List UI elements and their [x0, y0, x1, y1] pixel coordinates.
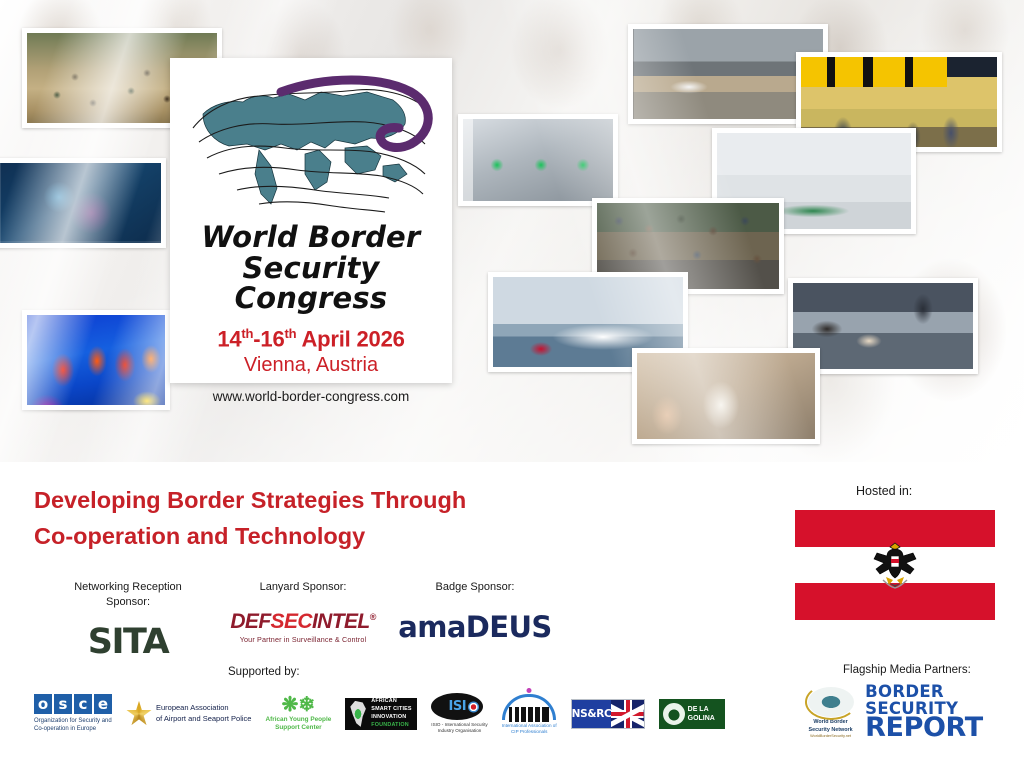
ascif-line2: SMART CITIES — [371, 706, 411, 714]
photo-automated-egates-terminal — [458, 114, 618, 206]
osce-letter: e — [94, 694, 112, 714]
golina-line1: DE LA — [688, 705, 715, 714]
event-location: Vienna, Austria — [170, 354, 452, 377]
supporter-logo-nsrc[interactable]: NS&RC — [571, 699, 645, 729]
media-partner-world-border-security-network[interactable]: World Border Security Network WorldBorde… — [802, 687, 859, 738]
defsecintel-tagline: Your Partner in Surveillance & Control — [230, 635, 375, 644]
dome-pin-icon — [526, 688, 531, 693]
photo-image — [637, 353, 815, 439]
registered-mark-icon: ® — [370, 612, 376, 622]
photo-image — [633, 29, 823, 119]
media-partners-caption: Flagship Media Partners: — [843, 664, 971, 676]
hands-icon — [663, 703, 685, 725]
wbsn-text: World Border Security Network — [802, 719, 859, 734]
theme-headline: Developing Border Strategies Through Co-… — [34, 482, 554, 555]
sponsor-caption: Badge Sponsor: — [390, 580, 560, 595]
osce-letter-boxes: o s c e — [34, 694, 112, 714]
aypsc-line1: African Young People — [265, 716, 331, 724]
cip-dome-skyline-icon — [502, 692, 556, 722]
osce-subtitle-line2: Co-operation in Europe — [34, 725, 112, 733]
photo-image — [463, 119, 613, 201]
osce-letter: s — [54, 694, 72, 714]
wbsn-line2: Security Network — [802, 727, 859, 734]
supporter-logo-isio[interactable]: ISI ISIO - International Security Indust… — [431, 693, 487, 735]
isio-letters: ISI — [449, 699, 467, 714]
eaasp-text: European Association of Airport and Seap… — [156, 703, 251, 725]
ascif-line3: INNOVATION — [371, 714, 411, 722]
golina-line2: GOLINA — [688, 714, 715, 723]
police-star-icon — [126, 701, 152, 727]
date-day-end: -16 — [253, 327, 284, 352]
sita-logo[interactable]: SITA — [40, 622, 216, 662]
photo-image — [27, 315, 165, 405]
photo-image — [0, 163, 161, 243]
sponsor-caption: Networking Reception Sponsor: — [40, 580, 216, 610]
defsecintel-part2: SEC — [271, 610, 312, 633]
isio-target-icon — [468, 701, 479, 712]
isio-subtitle: ISIO - International Security Industry O… — [431, 722, 487, 735]
photo-thermal-imaging-camera-view — [22, 310, 170, 410]
event-date: 14th-16th April 2026 — [170, 326, 452, 352]
defsecintel-part1: DEF — [230, 610, 270, 633]
congress-title-line1: World Border — [170, 222, 452, 253]
congress-logo-card: World Border Security Congress 14th-16th… — [170, 58, 452, 383]
bsr-line2: REPORT — [865, 714, 1024, 741]
golina-text: DE LA GOLINA — [688, 705, 715, 723]
supporter-logo-de-la-golina[interactable]: DE LA GOLINA — [659, 699, 725, 729]
amadeus-logo-text: amaDEUS — [398, 610, 551, 644]
media-partner-border-security-report[interactable]: BORDER SECURITY REPORT — [865, 684, 1024, 741]
date-sup-2: th — [285, 326, 297, 341]
iacp-subtitle-line2: CIP Professionals — [502, 729, 557, 735]
skyline-icon — [509, 707, 549, 722]
photo-collage: World Border Security Congress 14th-16th… — [0, 0, 1024, 462]
congress-title-line2: Security Congress — [170, 253, 452, 314]
eaasp-line2: of Airport and Seaport Police — [156, 714, 251, 725]
media-partners-row: World Border Security Network WorldBorde… — [802, 684, 1024, 741]
sponsor-badge: Badge Sponsor: amaDEUS — [390, 580, 560, 662]
wbsn-globe-icon — [808, 687, 854, 717]
supporter-logo-osce[interactable]: o s c e Organization for Security and Co… — [34, 694, 112, 733]
iacp-subtitle: International Association of CIP Profess… — [502, 723, 557, 736]
sponsor-networking-reception: Networking Reception Sponsor: SITA — [40, 580, 216, 662]
sponsor-caption-line1: Badge Sponsor: — [390, 580, 560, 595]
supporter-logo-african-smart-cities-innovation-foundation[interactable]: AFRICAN SMART CITIES INNOVATION FOUNDATI… — [345, 698, 417, 730]
congress-title: World Border Security Congress — [170, 222, 452, 314]
supporters-row: o s c e Organization for Security and Co… — [34, 692, 754, 736]
osce-subtitle: Organization for Security and Co-operati… — [34, 717, 112, 733]
theme-headline-line2: Co-operation and Technology — [34, 518, 554, 554]
uk-flag-icon — [611, 700, 643, 728]
austria-eagle-coat-of-arms-icon — [871, 539, 919, 591]
sita-logo-text: SITA — [88, 622, 168, 662]
sponsor-caption-line1: Lanyard Sponsor: — [216, 580, 390, 595]
supporter-logo-international-association-cip-professionals[interactable]: International Association of CIP Profess… — [502, 692, 557, 736]
aypsc-text: African Young People Support Center — [265, 716, 331, 733]
photo-image — [793, 283, 973, 369]
date-day-start: 14 — [217, 327, 241, 352]
wbsn-line1: World Border — [802, 719, 859, 726]
ascif-line1: AFRICAN — [371, 698, 411, 706]
sponsor-caption: Lanyard Sponsor: — [216, 580, 390, 595]
defsecintel-part3: INTEL — [312, 610, 370, 633]
nsrc-letters: NS&RC — [572, 708, 612, 720]
aypsc-line2: Support Center — [265, 724, 331, 732]
osce-letter: c — [74, 694, 92, 714]
hosted-in-caption: Hosted in: — [856, 484, 912, 498]
austria-flag — [795, 510, 995, 620]
date-month-year: April 2026 — [296, 327, 404, 352]
africa-map-icon — [348, 701, 368, 727]
poster-page: World Border Security Congress 14th-16th… — [0, 0, 1024, 768]
ascif-text: AFRICAN SMART CITIES INNOVATION FOUNDATI… — [371, 698, 411, 729]
sponsor-caption-line2: Sponsor: — [40, 595, 216, 610]
wbsn-wreath-icon — [805, 684, 857, 720]
ascif-line4: FOUNDATION — [371, 722, 411, 730]
sponsor-caption-line1: Networking Reception — [40, 580, 216, 595]
amadeus-logo[interactable]: amaDEUS — [390, 607, 560, 647]
isio-subtitle-line2: Industry Organisation — [431, 728, 487, 734]
globe-logo-icon — [185, 70, 437, 220]
event-website-url[interactable]: www.world-border-congress.com — [170, 389, 452, 404]
supporter-logo-african-young-people-support-center[interactable]: ❋❄ African Young People Support Center — [265, 695, 331, 733]
wbsn-url: WorldBorderSecurity.net — [802, 734, 859, 738]
sponsor-lanyard: Lanyard Sponsor: DEFSECINTEL® Your Partn… — [216, 580, 390, 662]
uk-flag-red-cross — [611, 700, 643, 728]
supporter-logo-european-association-airport-seaport-police[interactable]: European Association of Airport and Seap… — [126, 701, 251, 727]
theme-headline-line1: Developing Border Strategies Through — [34, 482, 554, 518]
isio-oval-icon: ISI — [431, 693, 483, 720]
osce-letter: o — [34, 694, 52, 714]
defsecintel-logo[interactable]: DEFSECINTEL® Your Partner in Surveillanc… — [216, 607, 390, 647]
date-sup-1: th — [241, 326, 253, 341]
osce-subtitle-line1: Organization for Security and — [34, 717, 112, 725]
supported-by-caption: Supported by: — [228, 666, 300, 678]
green-people-icon: ❋❄ — [265, 695, 331, 715]
photo-surveillance-tech-display — [0, 158, 166, 248]
nsrc-wordmark: NS&RC — [572, 700, 612, 728]
eaasp-line1: European Association — [156, 703, 251, 714]
photo-passport-document-inspection — [632, 348, 820, 444]
sponsor-row: Networking Reception Sponsor: SITA Lanya… — [40, 580, 560, 662]
